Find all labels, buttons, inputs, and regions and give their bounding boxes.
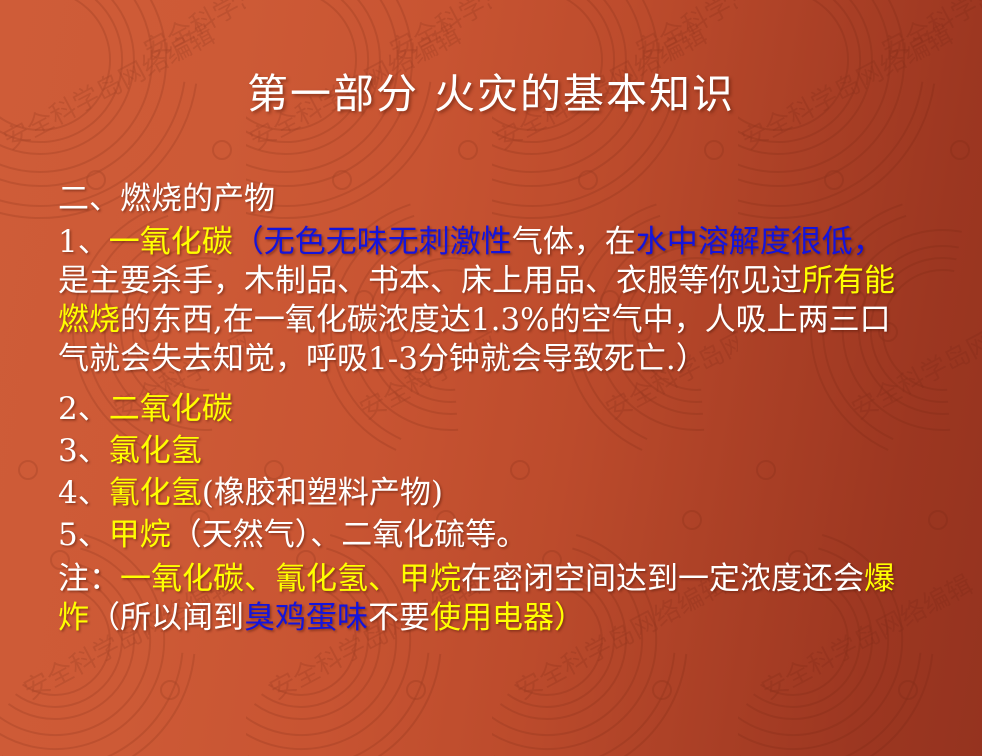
slide: 安全科学岛网络编辑安全科学岛网络编辑安全科学岛网络编辑安全科学岛网络编辑安全科学… bbox=[0, 0, 982, 756]
item1-line1: 1、一氧化碳（无色无味无刺激性气体，在水中溶解度很低， bbox=[58, 223, 958, 262]
note-line1: 注：一氧化碳、氰化氢、甲烷在密闭空间达到一定浓度还会爆 bbox=[58, 560, 958, 599]
item1-line1-blue2: 水中溶解度很低， bbox=[636, 224, 884, 260]
item4-name: 氰化氢 bbox=[109, 475, 202, 511]
note-boom-cont: 炸 bbox=[58, 600, 89, 636]
page-title: 第一部分 火灾的基本知识 bbox=[0, 60, 982, 120]
note-smell: 臭鸡蛋味 bbox=[244, 600, 368, 636]
svg-text:安全科学岛网络编辑: 安全科学岛网络编辑 bbox=[631, 0, 738, 66]
section-heading: 二、燃烧的产物 bbox=[58, 180, 958, 219]
note-negate: 不要 bbox=[368, 600, 430, 636]
list-item-4: 4、氰化氢(橡胶和塑料产物) bbox=[58, 472, 958, 514]
item3-name: 氯化氢 bbox=[109, 433, 202, 469]
note-boom: 爆 bbox=[864, 561, 895, 597]
note-paren-open: （所以闻到 bbox=[89, 600, 244, 636]
item1-line3: 燃烧的东西,在一氧化碳浓度达1.3%的空气中，人吸上两三口 bbox=[58, 301, 958, 340]
list-item-3: 3、氯化氢 bbox=[58, 430, 958, 472]
item5-number: 5、 bbox=[58, 517, 109, 553]
item5-tail: （天然气）、二氧化硫等。 bbox=[171, 517, 528, 553]
note-device: 使用电器） bbox=[430, 600, 585, 636]
svg-text:安全科学岛网络编辑: 安全科学岛网络编辑 bbox=[139, 0, 246, 66]
item3-number: 3、 bbox=[58, 433, 109, 469]
slide-body: 二、燃烧的产物 1、一氧化碳（无色无味无刺激性气体，在水中溶解度很低， 是主要杀… bbox=[58, 180, 958, 638]
item2-number: 2、 bbox=[58, 391, 109, 427]
item4-number: 4、 bbox=[58, 475, 109, 511]
item1-line1-white: 气体，在 bbox=[512, 224, 636, 260]
item5-name: 甲烷 bbox=[109, 517, 171, 553]
list-item-5: 5、甲烷（天然气）、二氧化硫等。 bbox=[58, 514, 958, 556]
note-mid-white: 在密闭空间达到一定浓度还会 bbox=[461, 561, 864, 597]
item1-line4: 气就会失去知觉，呼吸1-3分钟就会导致死亡.） bbox=[58, 340, 958, 379]
item1-line2-yellow: 所有能 bbox=[802, 263, 895, 299]
note-chemicals: 一氧化碳、氰化氢、甲烷 bbox=[120, 561, 461, 597]
item1-paren-blue: （无色无味无刺激性 bbox=[233, 224, 512, 260]
item1-line2-white: 是主要杀手，木制品、书本、床上用品、衣服等你见过 bbox=[58, 263, 802, 299]
note-label: 注： bbox=[58, 561, 120, 597]
item1-name: 一氧化碳 bbox=[109, 224, 233, 260]
item1-line2: 是主要杀手，木制品、书本、床上用品、衣服等你见过所有能 bbox=[58, 262, 958, 301]
item4-tail: (橡胶和塑料产物) bbox=[202, 475, 443, 511]
section-heading-text: 二、燃烧的产物 bbox=[58, 181, 275, 217]
note-line2: 炸（所以闻到臭鸡蛋味不要使用电器） bbox=[58, 599, 958, 638]
item1-line3-white: 的东西,在一氧化碳浓度达1.3%的空气中，人吸上两三口 bbox=[120, 302, 891, 338]
item1-number: 1、 bbox=[58, 224, 109, 260]
svg-text:安全科学岛网络编辑: 安全科学岛网络编辑 bbox=[877, 0, 982, 66]
list-item-2: 2、二氧化碳 bbox=[58, 388, 958, 430]
item2-name: 二氧化碳 bbox=[109, 391, 233, 427]
item1-line3-yellow: 燃烧 bbox=[58, 302, 120, 338]
svg-text:安全科学岛网络编辑: 安全科学岛网络编辑 bbox=[385, 0, 492, 66]
item1-line4-white: 气就会失去知觉，呼吸1-3分钟就会导致死亡.） bbox=[58, 341, 707, 377]
